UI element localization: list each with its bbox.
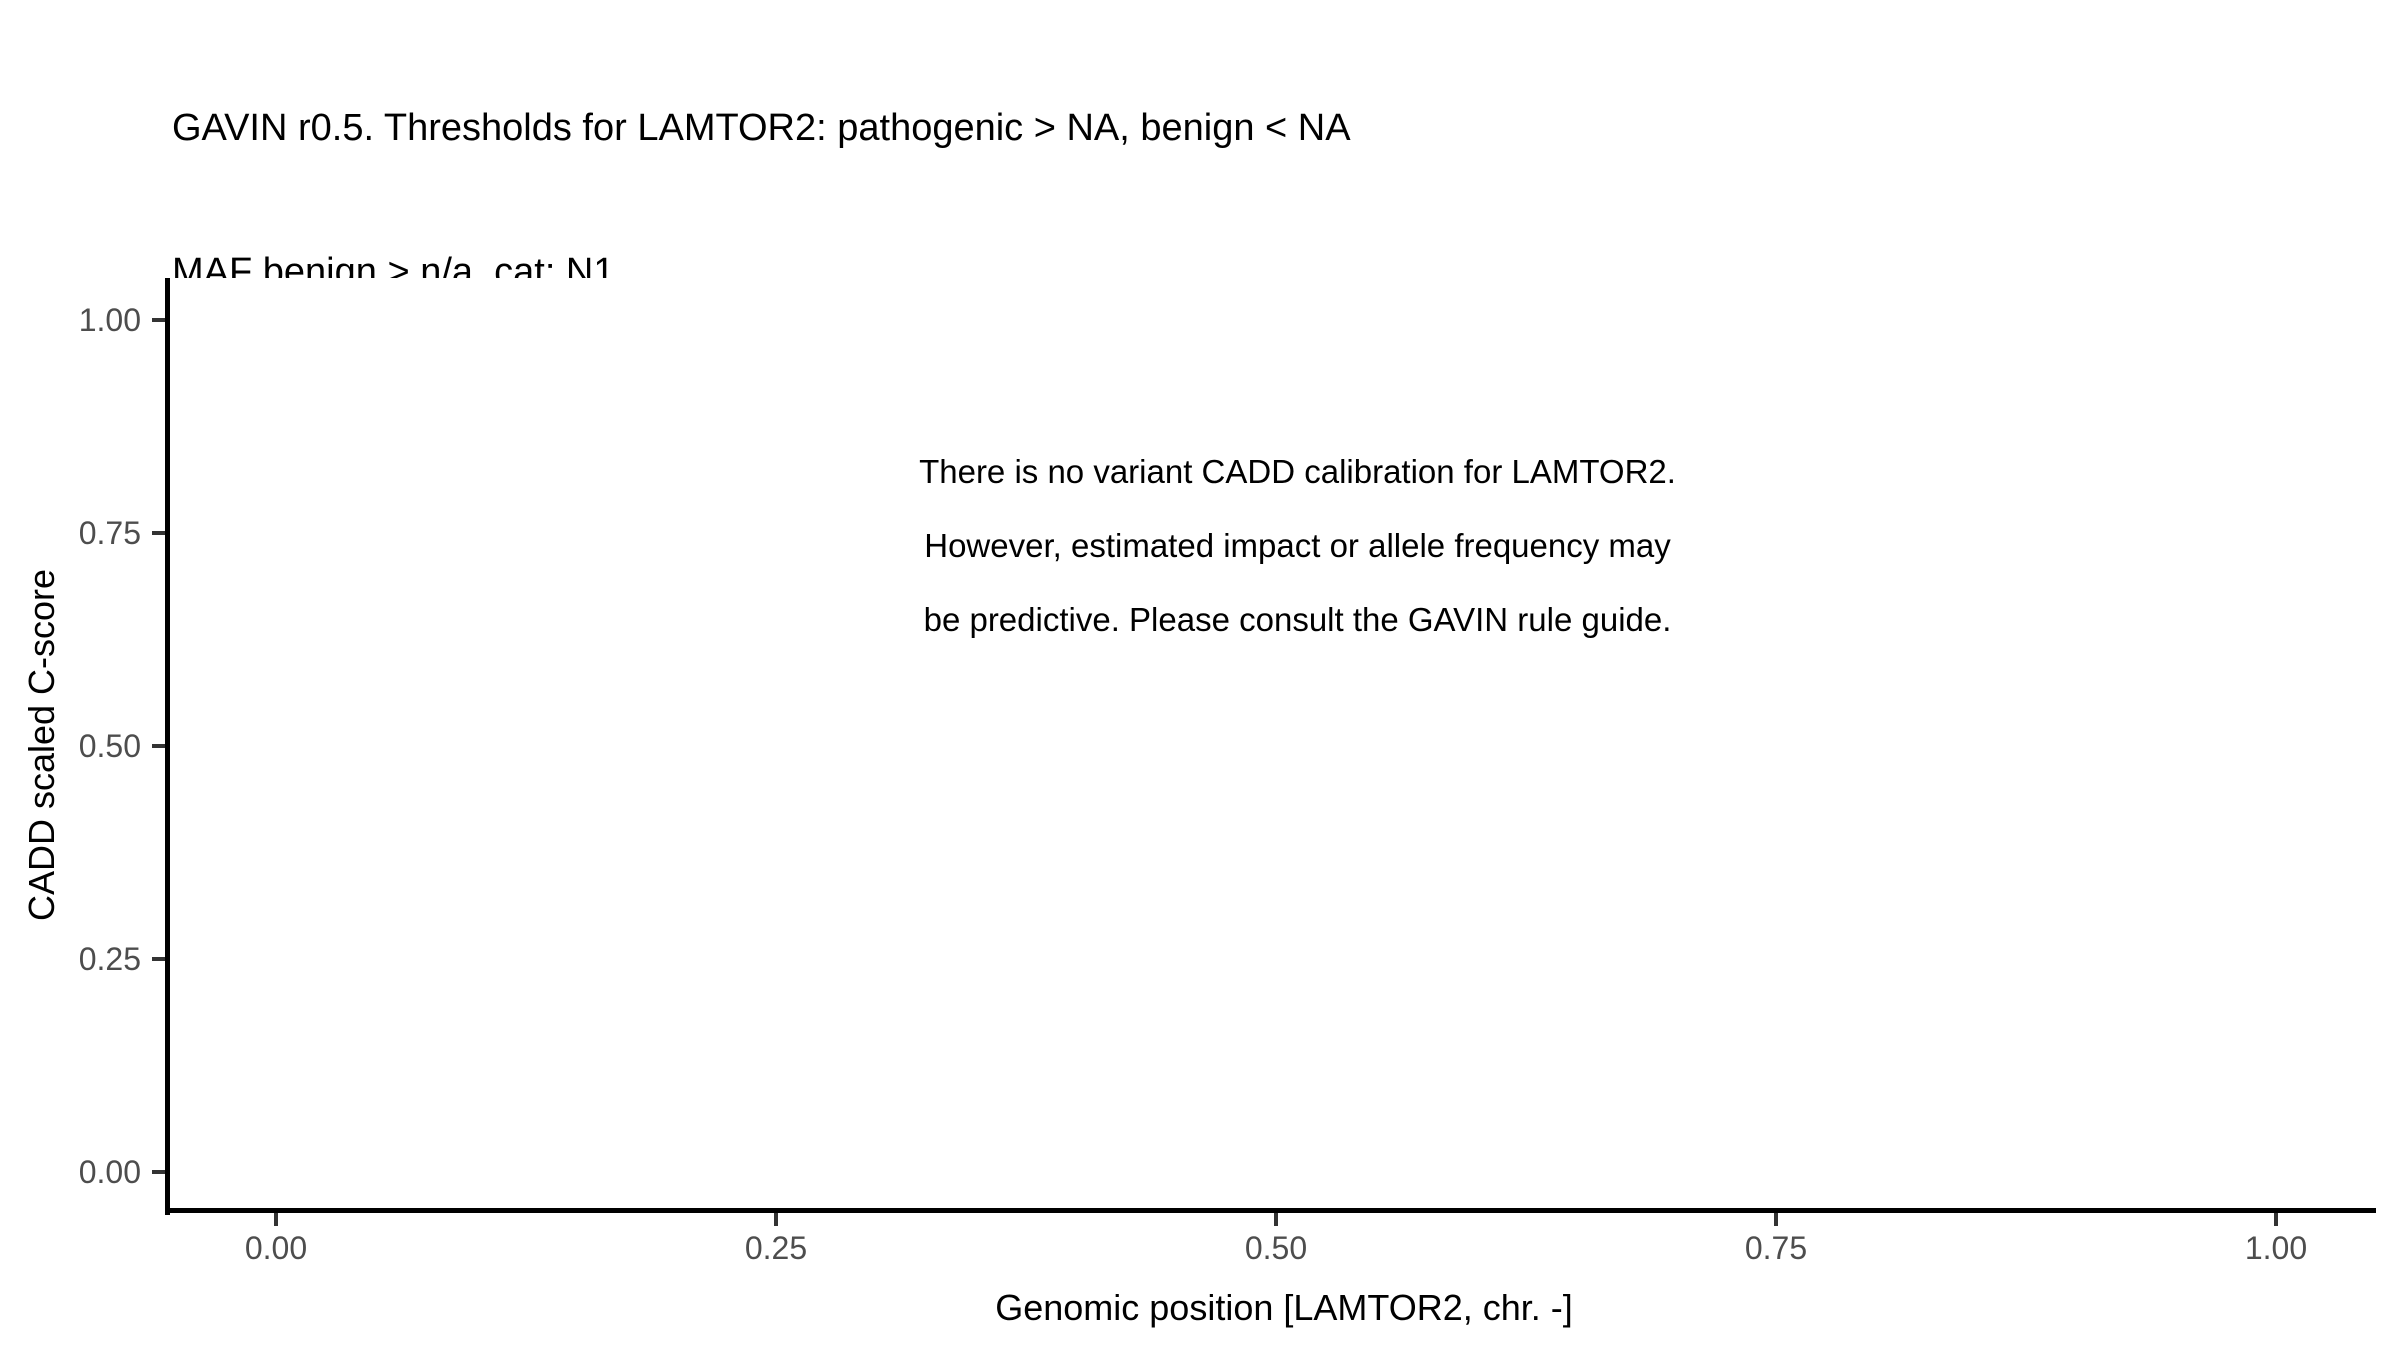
x-tick-mark-1.00 [2274, 1213, 2278, 1226]
no-calibration-annotation: There is no variant CADD calibration for… [755, 435, 1840, 657]
chart-title-line-1: GAVIN r0.5. Thresholds for LAMTOR2: path… [172, 104, 2272, 152]
y-tick-label-0.25: 0.25 [79, 943, 141, 975]
x-tick-label-1.00: 1.00 [2245, 1232, 2307, 1264]
annotation-line-3: be predictive. Please consult the GAVIN … [755, 583, 1840, 657]
y-tick-label-1.00: 1.00 [79, 304, 141, 336]
y-tick-mark-0.50 [152, 744, 165, 748]
y-tick-label-0.00: 0.00 [79, 1156, 141, 1188]
annotation-line-1: There is no variant CADD calibration for… [755, 435, 1840, 509]
x-tick-mark-0.50 [1274, 1213, 1278, 1226]
y-tick-label-0.75: 0.75 [79, 517, 141, 549]
annotation-line-2: However, estimated impact or allele freq… [755, 509, 1840, 583]
x-tick-label-0.50: 0.50 [1245, 1232, 1307, 1264]
x-axis-title-text: Genomic position [LAMTOR2, chr. -] [995, 1288, 1573, 1328]
x-tick-mark-0.25 [774, 1213, 778, 1226]
chart-canvas: GAVIN r0.5. Thresholds for LAMTOR2: path… [0, 0, 2400, 1350]
y-axis-title-text: CADD scaled C-score [21, 569, 62, 921]
x-axis-line [165, 1208, 2376, 1213]
y-tick-mark-0.00 [152, 1170, 165, 1174]
y-tick-mark-1.00 [152, 318, 165, 322]
x-tick-label-0.25: 0.25 [745, 1232, 807, 1264]
x-tick-label-0.75: 0.75 [1745, 1232, 1807, 1264]
plot-panel: There is no variant CADD calibration for… [168, 278, 2376, 1212]
x-axis-title: Genomic position [LAMTOR2, chr. -] [0, 1288, 2400, 1328]
y-axis-line [165, 278, 170, 1215]
y-tick-label-0.50: 0.50 [79, 730, 141, 762]
x-tick-label-0.00: 0.00 [245, 1232, 307, 1264]
y-axis-title: CADD scaled C-score [14, 278, 70, 1212]
x-tick-mark-0.75 [1774, 1213, 1778, 1226]
y-tick-mark-0.25 [152, 957, 165, 961]
x-tick-mark-0.00 [274, 1213, 278, 1226]
y-tick-mark-0.75 [152, 531, 165, 535]
